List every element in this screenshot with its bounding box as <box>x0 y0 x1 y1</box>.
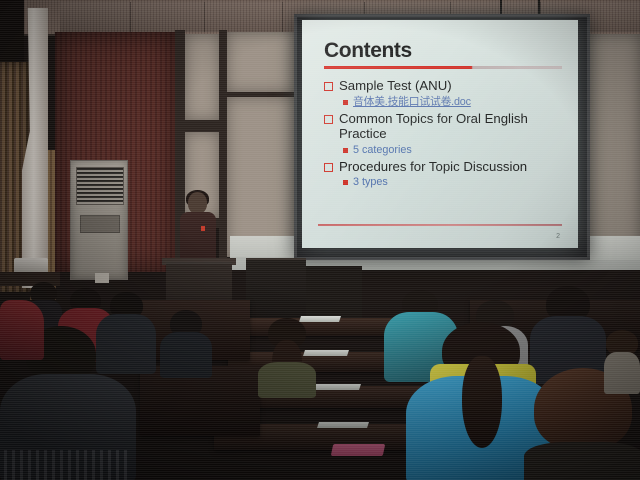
filled-square-bullet-icon <box>343 180 348 185</box>
slide-bullet-text: 5 categories <box>353 144 412 157</box>
slide-number: 2 <box>556 233 560 240</box>
wall-corner-shadow <box>0 0 24 70</box>
air-conditioner-display <box>95 273 109 283</box>
wall-panel-far-right <box>584 34 640 260</box>
slide-bullet-text: 3 types <box>353 176 388 189</box>
slide-footer-rule <box>318 224 562 226</box>
slide-link-filename[interactable]: 音体美.技能口试试卷.doc <box>353 96 471 109</box>
slide-bullet-level2: 3 types <box>343 176 564 189</box>
slide-bullet-text: Procedures for Topic Discussion <box>339 159 527 175</box>
filled-square-bullet-icon <box>343 148 348 153</box>
hollow-square-bullet-icon <box>324 115 333 124</box>
title-underline-rule <box>324 66 562 69</box>
slide-bullet-level1: Sample Test (ANU) <box>324 78 564 94</box>
air-conditioner-unit <box>70 160 128 280</box>
wall-trim-mid <box>185 120 219 132</box>
wall-trim-vertical <box>219 30 227 280</box>
slide-title: Contents <box>324 40 564 61</box>
filled-square-bullet-icon <box>343 100 348 105</box>
hollow-square-bullet-icon <box>324 82 333 91</box>
hollow-square-bullet-icon <box>324 163 333 172</box>
papers-on-desk <box>317 422 369 428</box>
presenter-head <box>188 192 207 214</box>
pink-folder <box>331 444 386 456</box>
audience-member-red-sleeve <box>0 300 44 360</box>
slide-bullet-text: Sample Test (ANU) <box>339 78 452 94</box>
slide-bullet-level2[interactable]: 音体美.技能口试试卷.doc <box>343 96 564 109</box>
air-conditioner-grille <box>76 167 124 205</box>
lecture-hall-photo: Contents Sample Test (ANU) 音体美.技能口试试卷.do… <box>0 0 640 480</box>
ponytail <box>462 356 502 448</box>
audience-member <box>604 330 640 390</box>
presentation-slide[interactable]: Contents Sample Test (ANU) 音体美.技能口试试卷.do… <box>302 20 578 248</box>
air-conditioner-control-panel[interactable] <box>80 215 120 233</box>
av-cabinet-secondary <box>306 266 362 320</box>
slide-bullet-text: Common Topics for Oral English Practice <box>339 111 564 142</box>
wall-panel-right-main <box>227 97 295 257</box>
papers-on-desk <box>313 384 361 390</box>
presenter-badge <box>201 226 205 231</box>
slide-bullet-level1: Common Topics for Oral English Practice <box>324 111 564 142</box>
wall-panel-right-top <box>227 32 295 92</box>
audience-member <box>160 310 212 374</box>
wall-panel-upper-left <box>185 34 219 120</box>
audience-member-long-hair <box>258 318 316 394</box>
slide-bullet-level1: Procedures for Topic Discussion <box>324 159 564 175</box>
av-cabinet <box>246 258 306 322</box>
slide-bullet-level2: 5 categories <box>343 144 564 157</box>
knit-pattern <box>4 450 132 480</box>
